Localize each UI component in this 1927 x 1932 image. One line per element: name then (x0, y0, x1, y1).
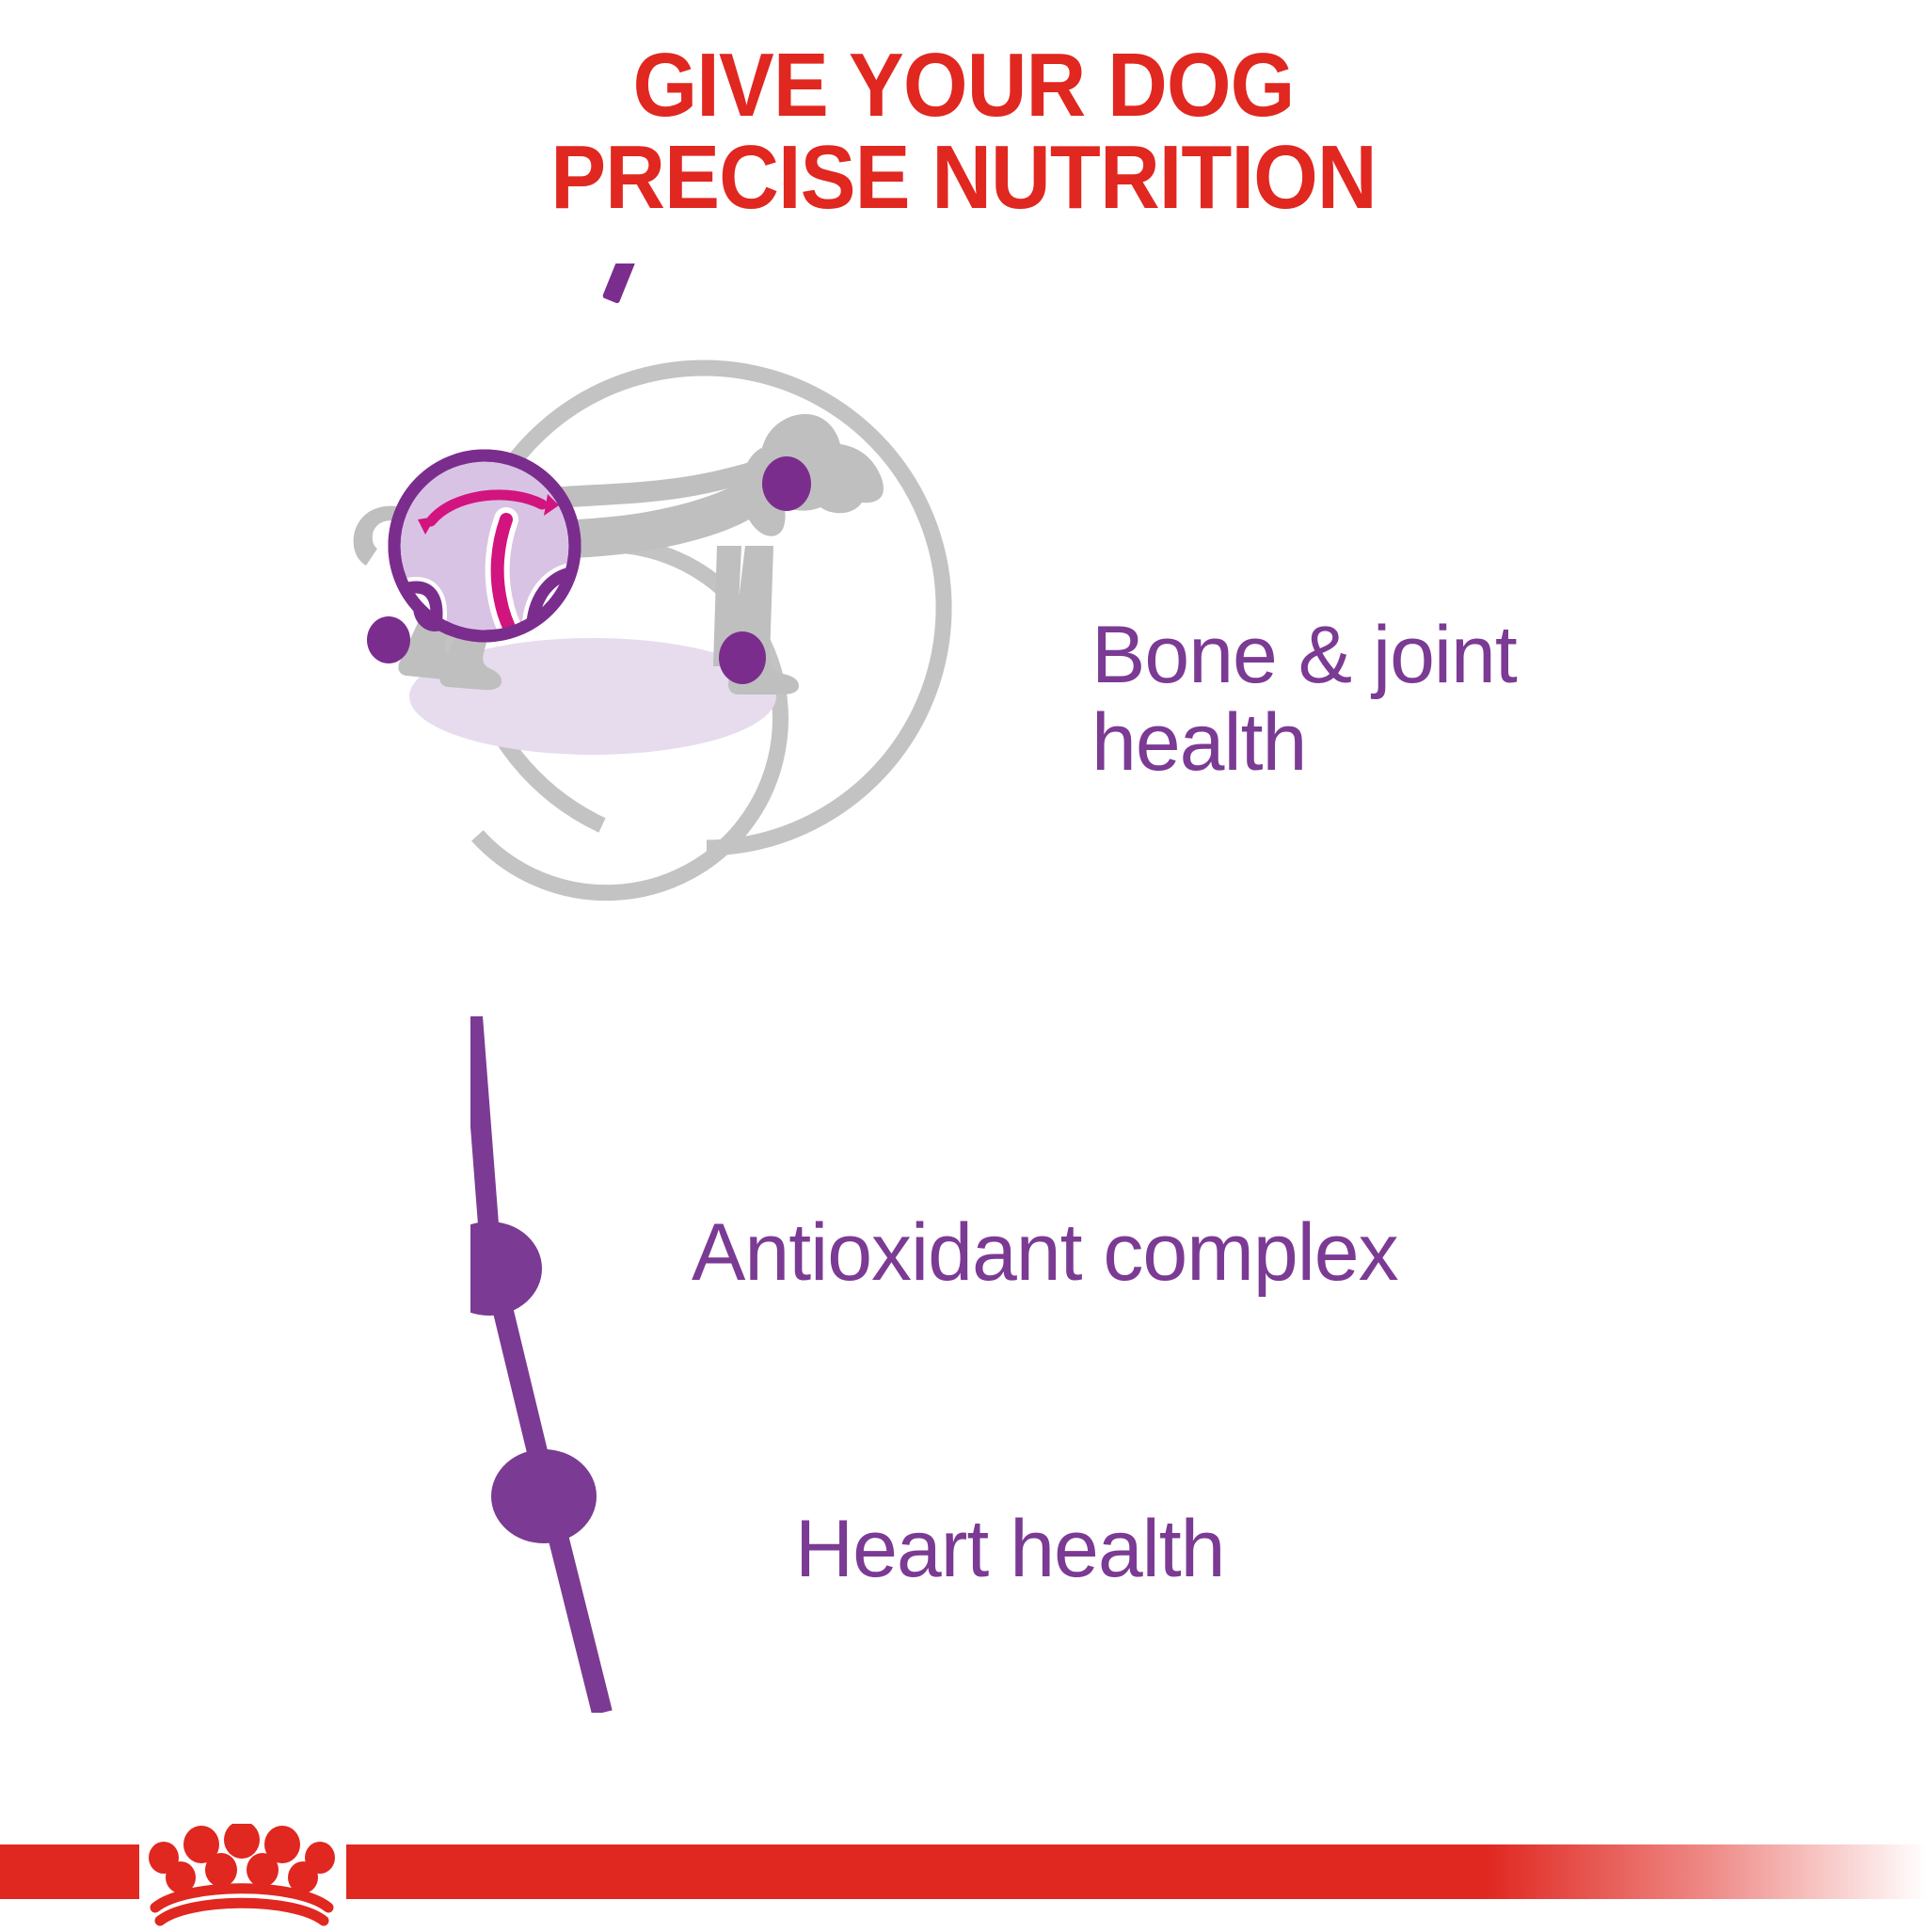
dog-illustration (311, 263, 1007, 922)
royal-canin-crown-logo (130, 1824, 354, 1927)
node-dot-antioxidant (470, 1221, 542, 1316)
benefit-label-bone-joint: Bone & joint health (1091, 612, 1825, 787)
node-dot-heart (491, 1449, 597, 1543)
poster-canvas: GIVE YOUR DOG PRECISE NUTRITION (0, 0, 1927, 1927)
page-title: GIVE YOUR DOG PRECISE NUTRITION (77, 40, 1850, 224)
hind-paw-joint-dot (367, 616, 410, 663)
shoulder-joint-dot (762, 456, 811, 511)
benefit-label-antioxidant: Antioxidant complex (692, 1209, 1896, 1297)
benefit-connector-line (470, 1016, 847, 1713)
pointer-dash-icon (602, 263, 645, 304)
benefit-label-heart: Heart health (795, 1506, 1642, 1593)
front-knee-joint-dot (719, 631, 766, 684)
footer (0, 1824, 1927, 1927)
footer-bar-left (0, 1844, 139, 1899)
footer-bar-right (346, 1844, 1927, 1899)
